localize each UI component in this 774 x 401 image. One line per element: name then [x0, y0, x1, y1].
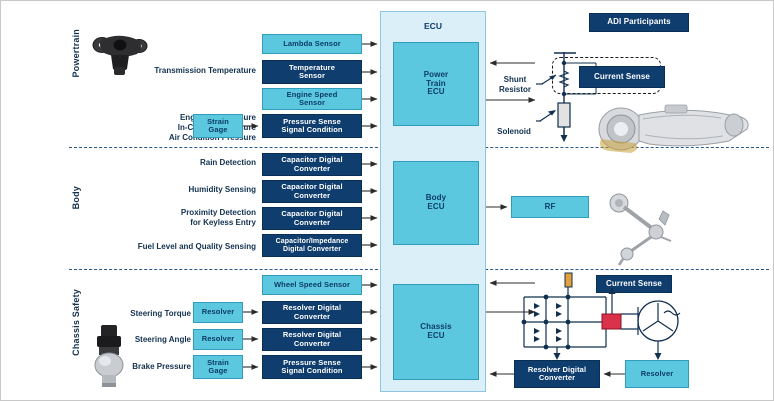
diagram-canvas: Powertrain Body Chassis Safety Transmiss…	[0, 0, 774, 401]
connector-arrows-layer	[1, 1, 774, 401]
